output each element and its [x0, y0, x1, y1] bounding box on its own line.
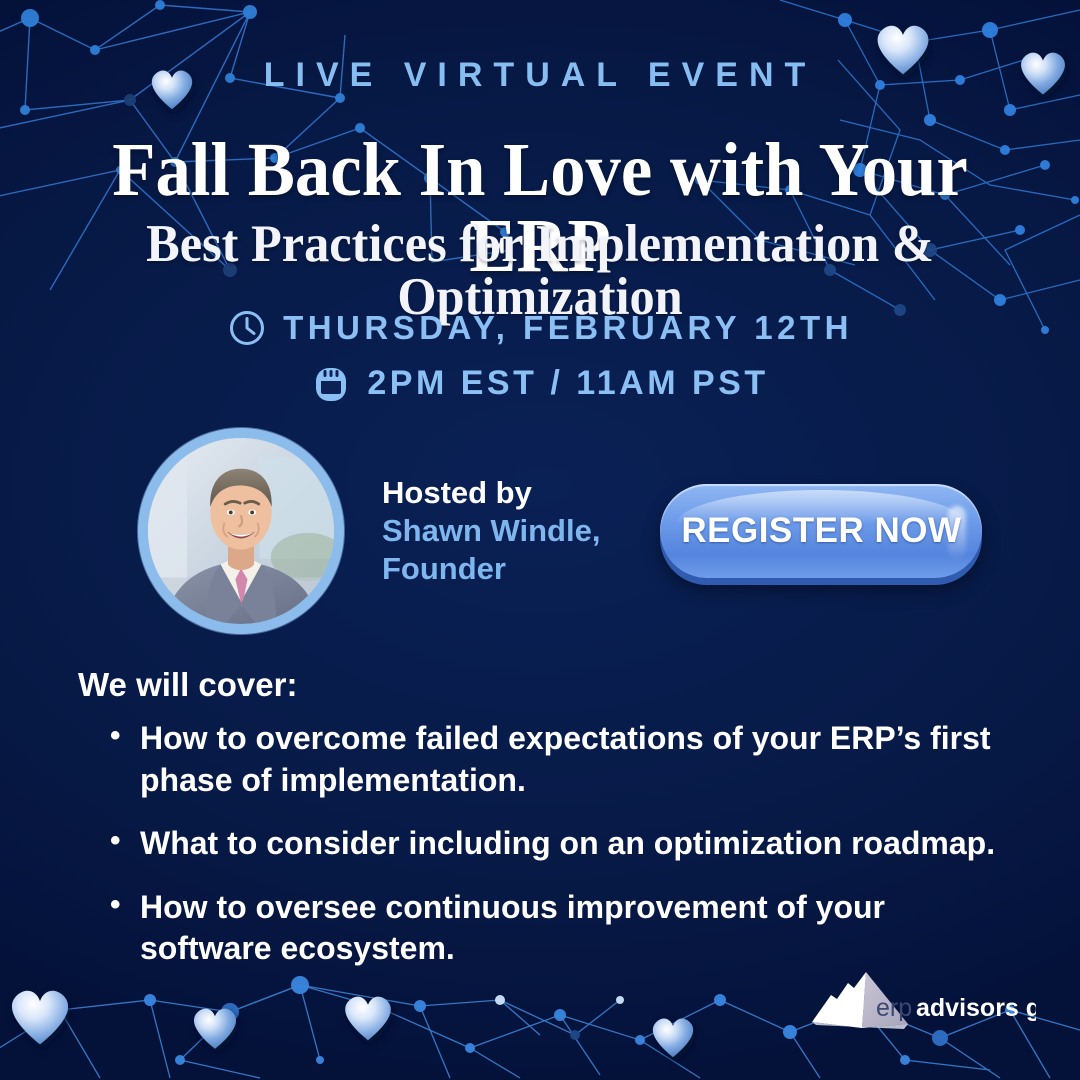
host-credit: Hosted by Shawn Windle, Founder: [382, 474, 600, 587]
list-item: How to overcome failed expectations of y…: [106, 718, 1010, 801]
coverage-heading: We will cover:: [78, 666, 1010, 704]
schedule-block: THURSDAY, FEBRUARY 12TH 2PM EST / 11AM P…: [0, 308, 1080, 404]
cta-container: REGISTER NOW: [660, 484, 982, 578]
schedule-time-row: 2PM EST / 11AM PST: [0, 362, 1080, 404]
host-name: Shawn Windle,: [382, 512, 600, 550]
register-now-button[interactable]: REGISTER NOW: [660, 484, 982, 578]
event-poster: LIVE VIRTUAL EVENT Fall Back In Love wit…: [0, 0, 1080, 1080]
hosted-by-label: Hosted by: [382, 474, 600, 512]
list-item: What to consider including on an optimiz…: [106, 823, 1010, 865]
schedule-time-text: 2PM EST / 11AM PST: [367, 364, 768, 403]
host-role: Founder: [382, 550, 600, 588]
schedule-date-text: THURSDAY, FEBRUARY 12TH: [283, 309, 853, 347]
speaker-headshot: [148, 438, 334, 624]
calendar-icon: [311, 362, 351, 404]
coverage-section: We will cover: How to overcome failed ex…: [78, 666, 1010, 992]
brand-logo: erp advisors group: [804, 958, 1036, 1042]
register-now-label: REGISTER NOW: [681, 511, 961, 550]
logo-word-light: erp: [876, 994, 912, 1022]
clock-icon: [227, 308, 267, 348]
schedule-date-row: THURSDAY, FEBRUARY 12TH: [0, 308, 1080, 348]
avatar: [138, 428, 344, 634]
logo-word-bold: advisors group: [916, 994, 1036, 1022]
host-block: Hosted by Shawn Windle, Founder REGISTER…: [0, 428, 1080, 634]
eyebrow-label: LIVE VIRTUAL EVENT: [0, 56, 1080, 95]
coverage-list: How to overcome failed expectations of y…: [78, 718, 1010, 970]
